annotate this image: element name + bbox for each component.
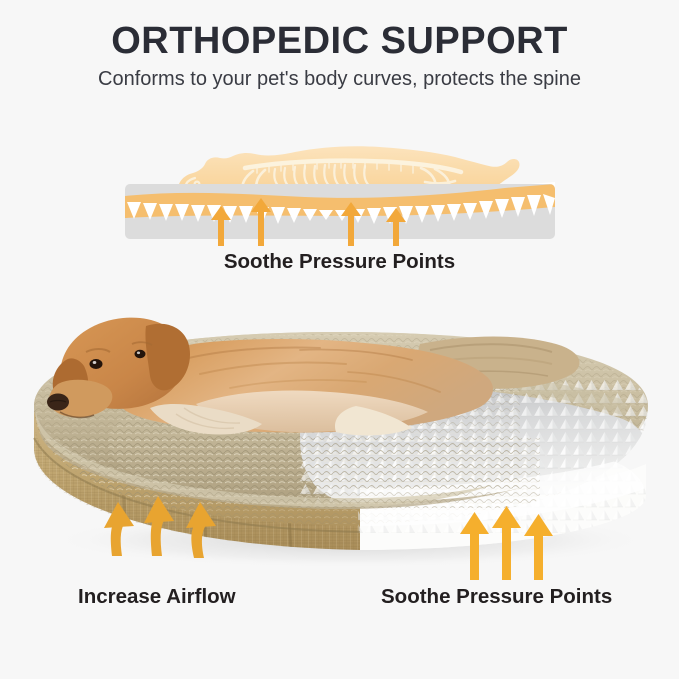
dog-on-orthopedic-bed-photo bbox=[0, 288, 679, 580]
dog-eye-far bbox=[135, 350, 146, 358]
diagram-caption-soothe-pressure-points: Soothe Pressure Points bbox=[0, 250, 679, 274]
infographic-root: ORTHOPEDIC SUPPORT Conforms to your pet'… bbox=[0, 0, 679, 679]
pressure-arrow-1 bbox=[211, 206, 231, 246]
diagram-pressure-arrows bbox=[125, 198, 555, 250]
pressure-arrow-2 bbox=[251, 198, 271, 246]
caption-soothe-pressure-points: Soothe Pressure Points bbox=[381, 585, 612, 609]
pressure-arrow-4 bbox=[386, 208, 406, 246]
page-title: ORTHOPEDIC SUPPORT bbox=[0, 22, 679, 62]
pressure-arrows-photo bbox=[460, 506, 553, 580]
page-subtitle: Conforms to your pet's body curves, prot… bbox=[0, 68, 679, 91]
caption-increase-airflow: Increase Airflow bbox=[78, 585, 236, 609]
dog-eye-near bbox=[90, 359, 103, 369]
pressure-arrow-3 bbox=[341, 202, 361, 246]
bottom-caption-row: Increase Airflow Soothe Pressure Points bbox=[0, 585, 679, 613]
